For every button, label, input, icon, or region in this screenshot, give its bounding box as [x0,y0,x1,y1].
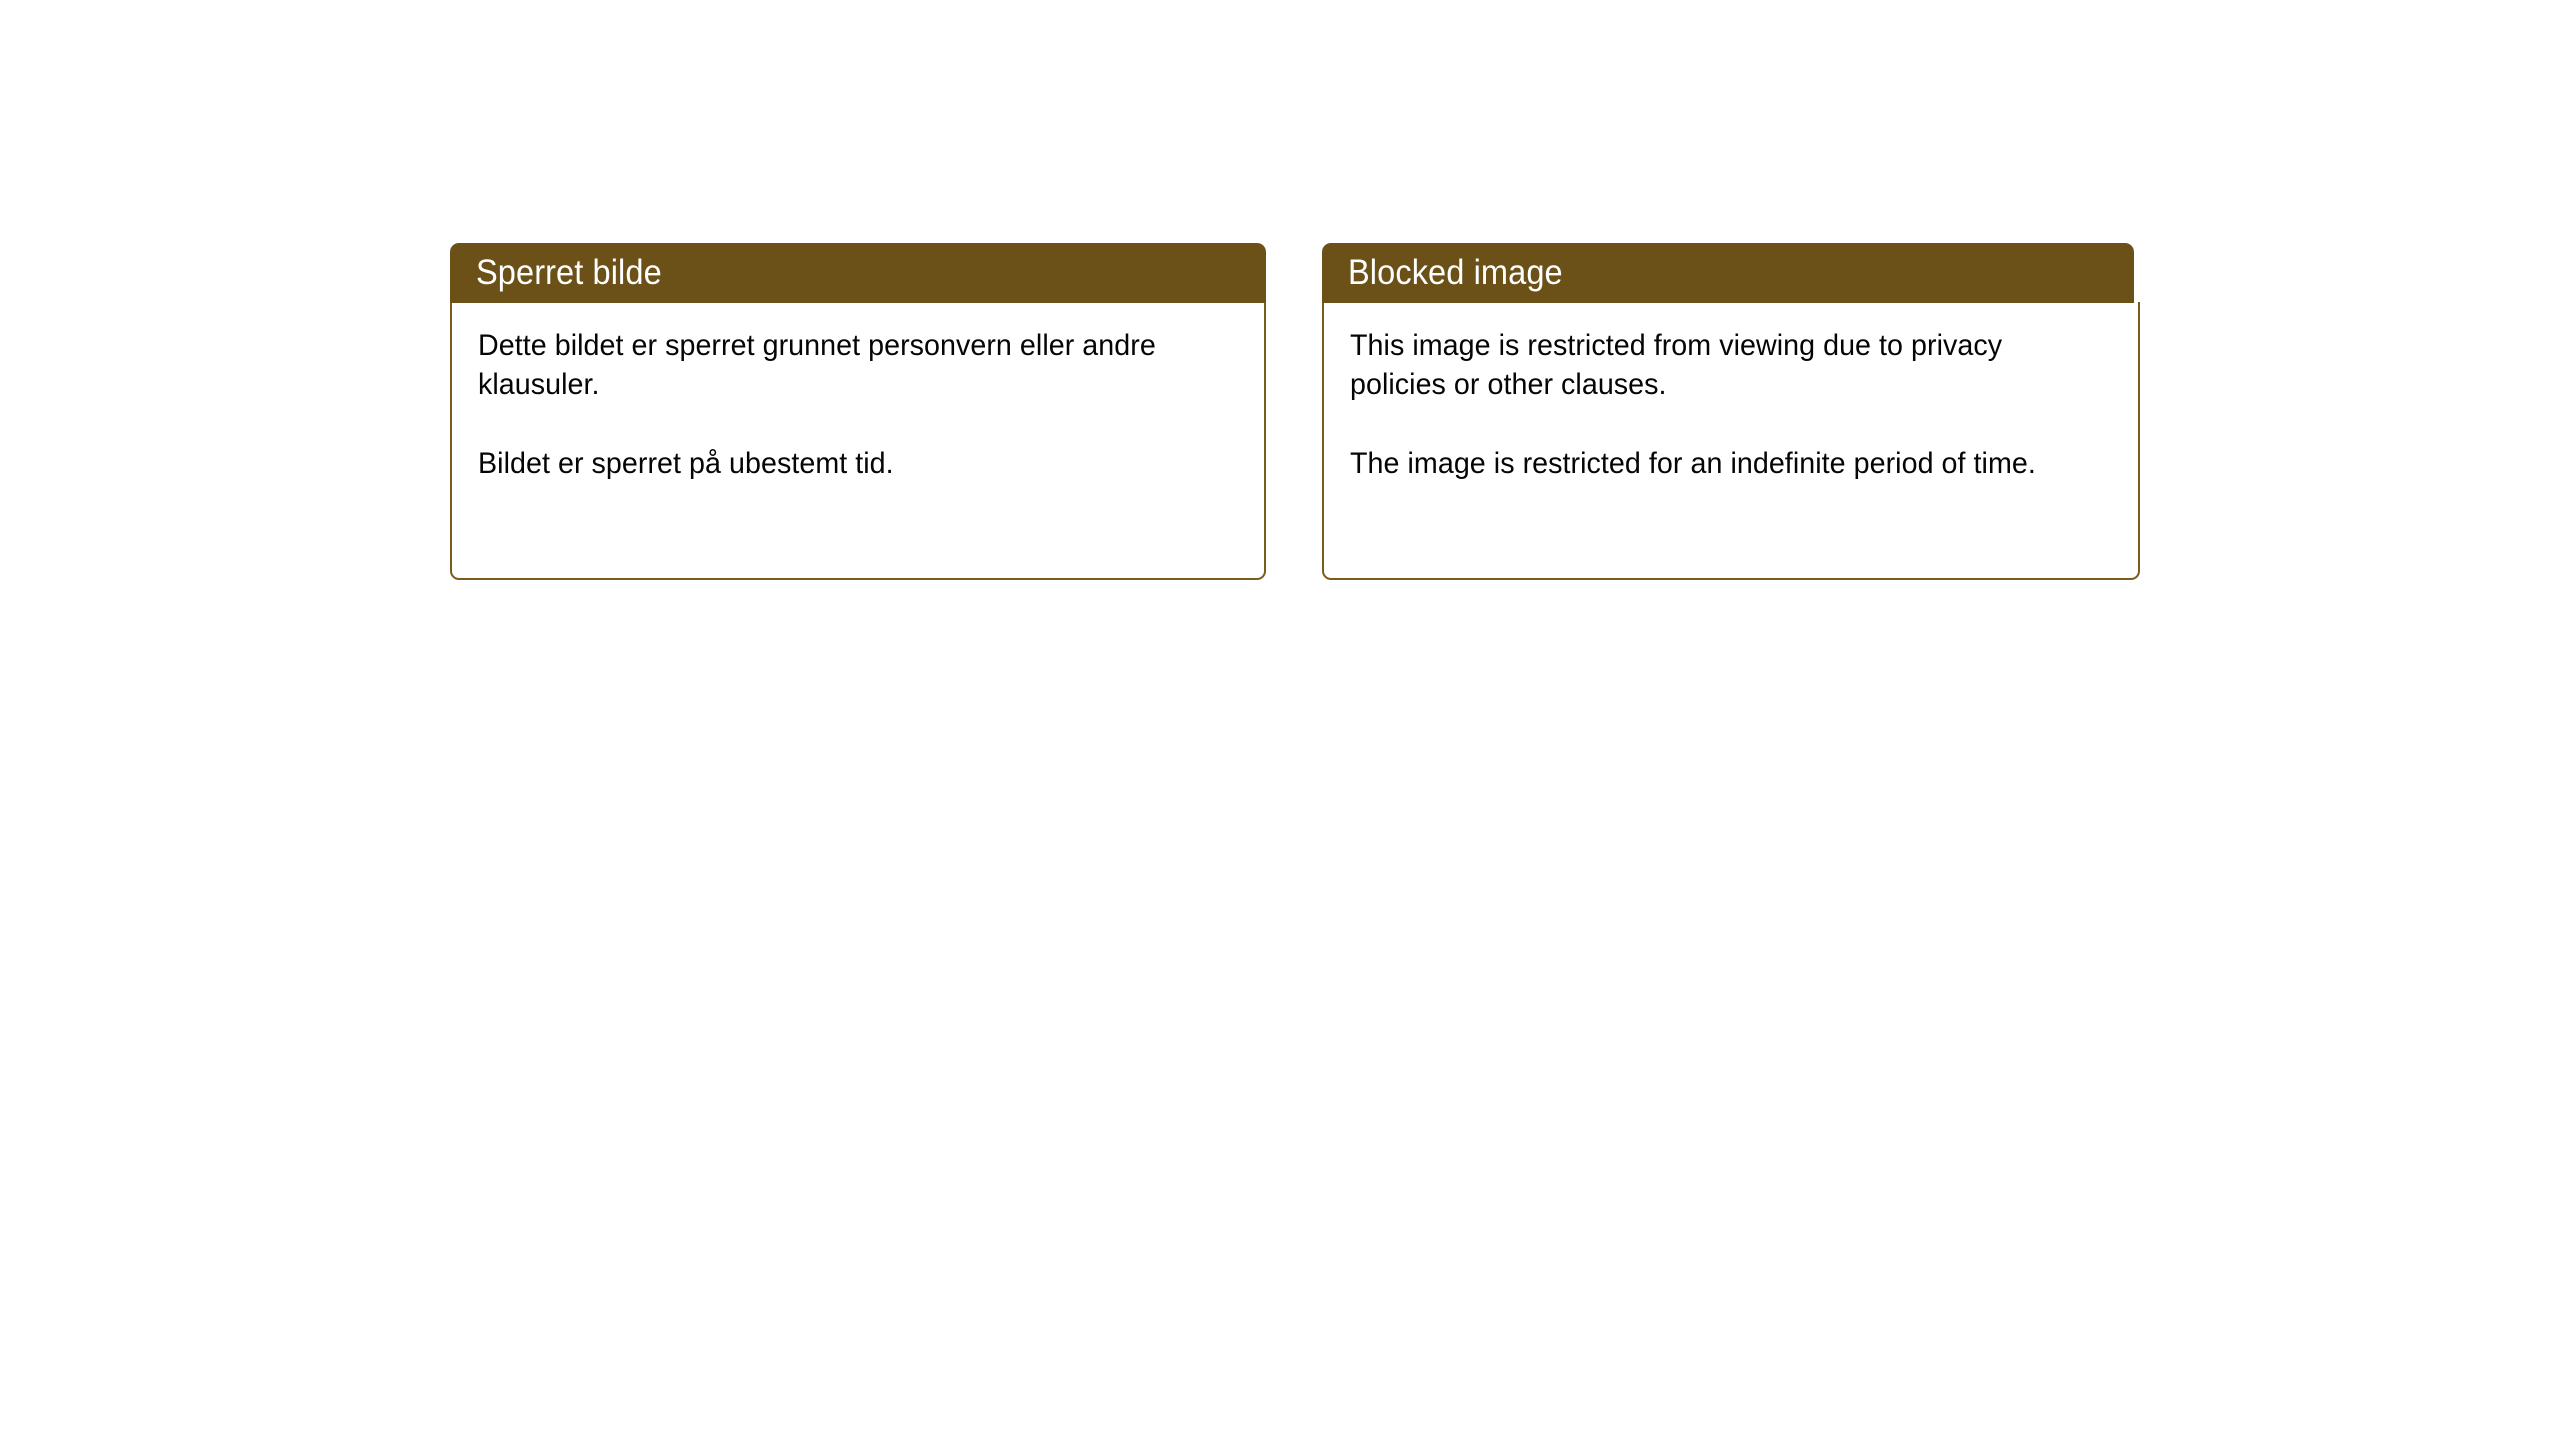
notice-body-en: This image is restricted from viewing du… [1322,302,2140,580]
notice-paragraph: Bildet er sperret på ubestemt tid. [478,444,1204,483]
notice-title-no: Sperret bilde [476,254,662,292]
notice-header-no: Sperret bilde [450,243,1266,303]
blocked-image-notice-no: Sperret bilde Dette bildet er sperret gr… [450,243,1266,580]
notice-paragraph: This image is restricted from viewing du… [1350,326,2078,405]
blocked-image-notice-en: Blocked image This image is restricted f… [1322,243,2140,580]
notice-paragraph: The image is restricted for an indefinit… [1350,444,2078,483]
notice-title-en: Blocked image [1348,254,1563,292]
notice-body-no: Dette bildet er sperret grunnet personve… [450,302,1266,580]
notice-paragraph: Dette bildet er sperret grunnet personve… [478,326,1204,405]
page-canvas: Sperret bilde Dette bildet er sperret gr… [0,0,2560,1440]
notice-header-en: Blocked image [1322,243,2134,303]
